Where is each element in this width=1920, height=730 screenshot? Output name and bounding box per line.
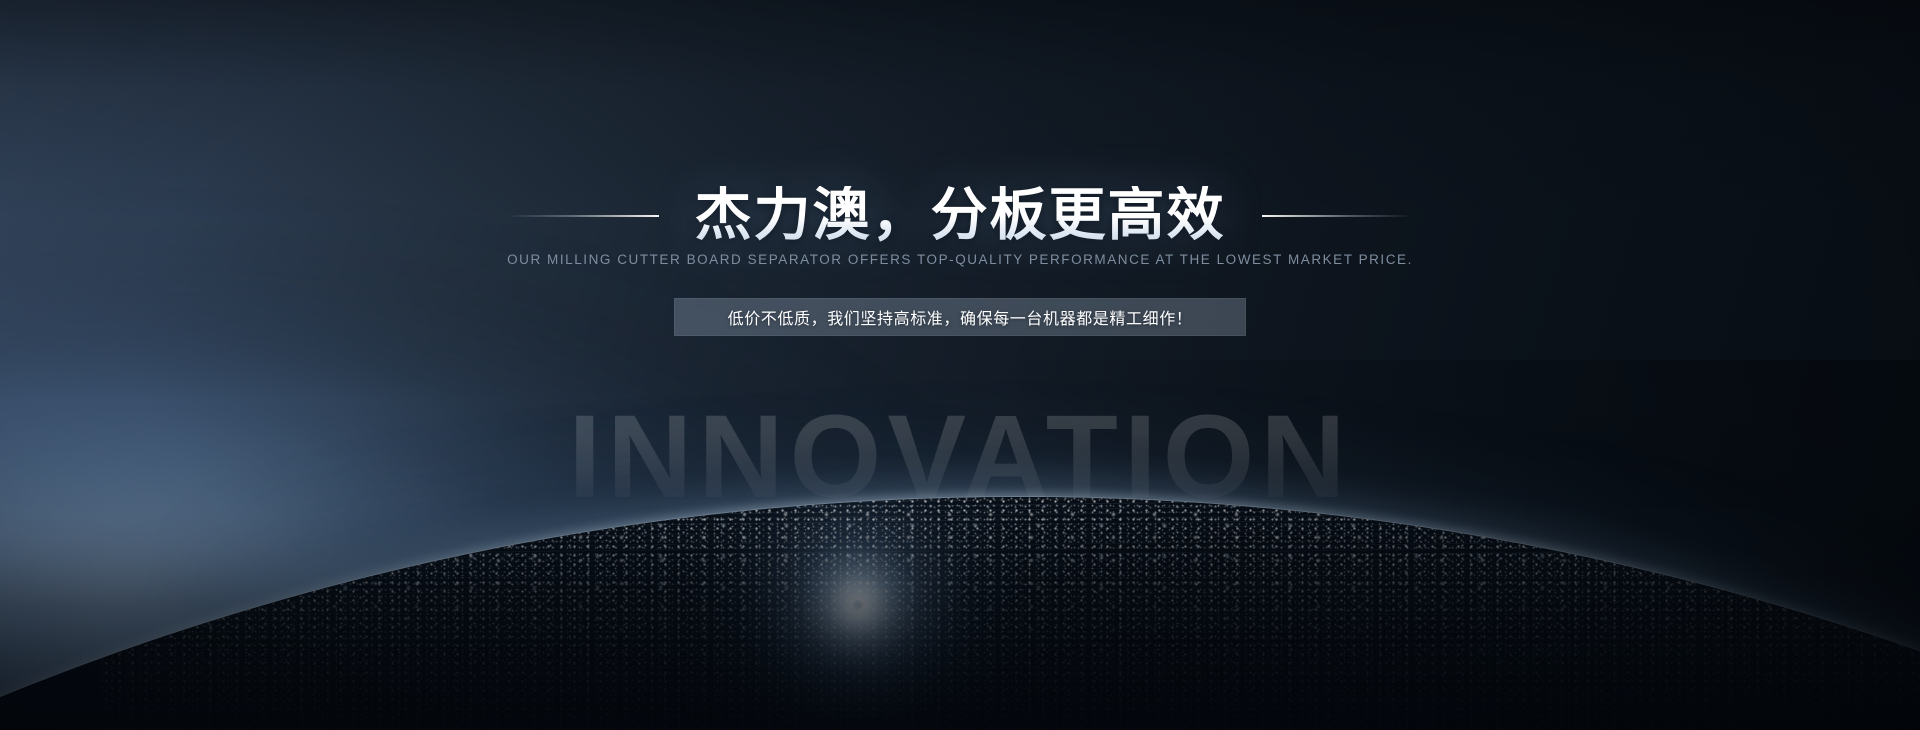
tagline-bar: 低价不低质，我们坚持高标准，确保每一台机器都是精工细作！ [674, 298, 1246, 336]
banner-content: 杰力澳，分板更高效 OUR MILLING CUTTER BOARD SEPAR… [0, 0, 1920, 730]
divider-line-left-icon [511, 215, 659, 217]
tagline-text: 低价不低质，我们坚持高标准，确保每一台机器都是精工细作！ [728, 305, 1193, 329]
divider-line-right-icon [1262, 215, 1410, 217]
page-title: 杰力澳，分板更高效 [695, 186, 1226, 246]
banner-subtitle: OUR MILLING CUTTER BOARD SEPARATOR OFFER… [0, 252, 1920, 267]
hero-banner: 杰力澳，分板更高效 OUR MILLING CUTTER BOARD SEPAR… [0, 0, 1920, 730]
watermark-text: INNOVATION [0, 398, 1920, 516]
